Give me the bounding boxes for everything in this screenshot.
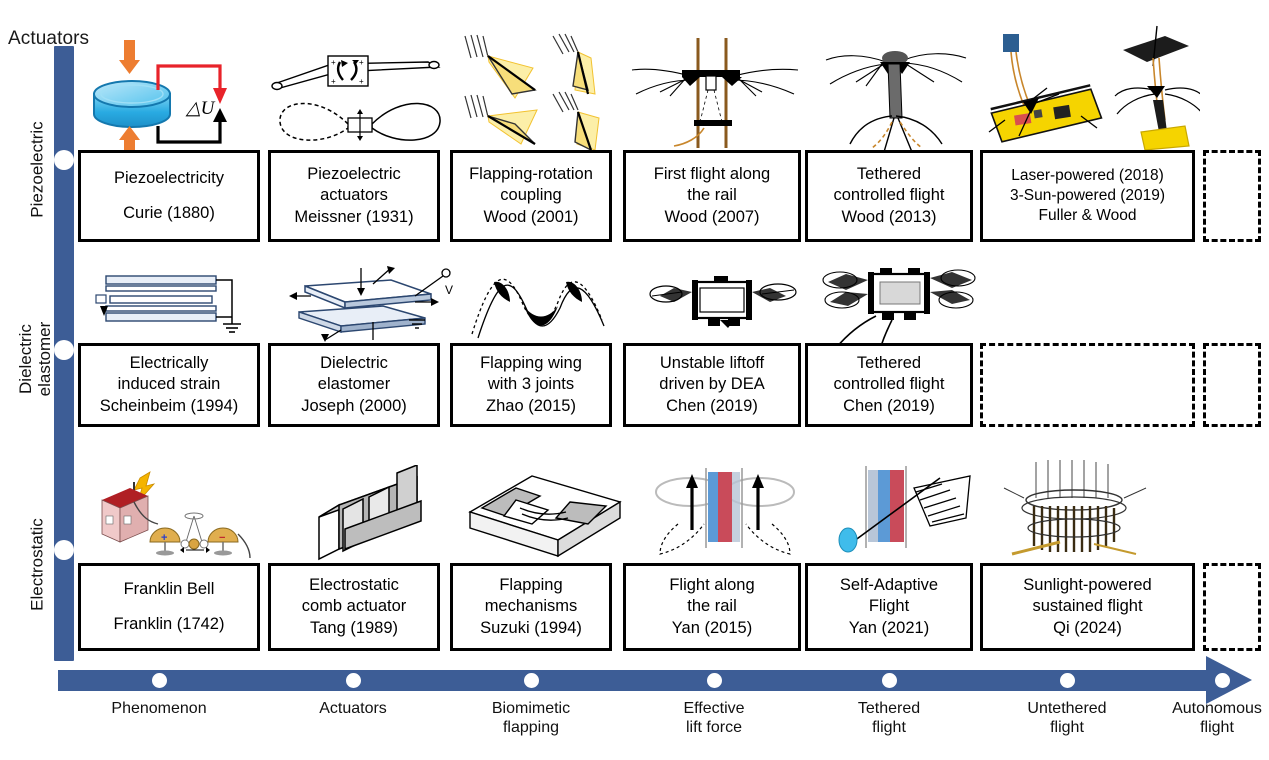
timeline-label-biomimetic-flapping: Biomimetic flapping <box>446 700 616 738</box>
comb-drive-actuator-illustration <box>305 465 445 561</box>
dielectric-elastomer-sheet-illustration: V <box>285 258 460 343</box>
card-electrostatic-4[interactable]: Flight along the rail Yan (2015) <box>623 563 801 651</box>
card-line: Flapping-rotation <box>469 164 593 185</box>
card-piezo-4[interactable]: First flight along the rail Wood (2007) <box>623 150 801 242</box>
card-piezo-5[interactable]: Tethered controlled flight Wood (2013) <box>805 150 973 242</box>
card-line: induced strain <box>118 374 221 395</box>
card-line: controlled flight <box>834 374 945 395</box>
timeline-label-phenomenon: Phenomenon <box>74 700 244 719</box>
timeline-label-effective-lift-force: Effective lift force <box>629 700 799 738</box>
card-piezo-2[interactable]: Piezoelectric actuators Meissner (1931) <box>268 150 440 242</box>
card-dea-2[interactable]: Dielectric elastomer Joseph (2000) <box>268 343 440 427</box>
card-line: Dielectric <box>320 353 388 374</box>
card-line: coupling <box>500 185 561 206</box>
row-label-electrostatic: Electrostatic <box>27 495 46 635</box>
card-line: Meissner (1931) <box>294 207 413 228</box>
svg-text:+: + <box>331 77 336 86</box>
dea-tethered-flight-illustration <box>820 258 980 350</box>
card-line: Piezoelectric <box>307 164 401 185</box>
card-line: Franklin (1742) <box>114 614 225 635</box>
card-line: First flight along <box>654 164 770 185</box>
timeline-dot-autonomous-flight <box>1215 673 1230 688</box>
card-dea-1[interactable]: Electrically induced strain Scheinbeim (… <box>78 343 260 427</box>
card-line: elastomer <box>318 374 390 395</box>
electrostatic-flight-rail-illustration <box>648 462 803 562</box>
card-line: Yan (2015) <box>672 618 752 639</box>
row-label-dielectric-elastomer: Dielectric elastomer <box>16 294 54 424</box>
flapping-wing-3-joints-illustration <box>470 258 615 343</box>
timeline-dot-untethered-flight <box>1060 673 1075 688</box>
timeline-label-tethered-flight: Tethered flight <box>804 700 974 738</box>
timeline-label-line: Phenomenon <box>74 700 244 719</box>
card-dea-4[interactable]: Unstable liftoff driven by DEA Chen (201… <box>623 343 801 427</box>
page-title: Actuators <box>8 28 89 50</box>
card-line: the rail <box>687 596 737 617</box>
card-line: driven by DEA <box>659 374 764 395</box>
actuator-development-timeline-figure: Actuators Piezoelectric Dielectric elast… <box>0 0 1269 760</box>
card-line: Self-Adaptive <box>840 575 938 596</box>
card-line: Flapping wing <box>480 353 582 374</box>
card-line: actuators <box>320 185 388 206</box>
vertical-axis-dot-electrostatic <box>54 540 74 560</box>
row-label-dielectric-line1: Dielectric <box>16 294 35 424</box>
card-line: comb actuator <box>302 596 407 617</box>
flapping-rotation-wings-illustration <box>455 32 625 154</box>
card-dea-5[interactable]: Tethered controlled flight Chen (2019) <box>805 343 973 427</box>
timeline-label-line: Untethered <box>982 700 1152 719</box>
card-dea-6-placeholder[interactable] <box>980 343 1195 427</box>
card-piezo-1[interactable]: Piezoelectricity Curie (1880) <box>78 150 260 242</box>
card-dea-3[interactable]: Flapping wing with 3 joints Zhao (2015) <box>450 343 612 427</box>
card-line: Electrostatic <box>309 575 399 596</box>
card-line: Electrically <box>130 353 209 374</box>
svg-text:+: + <box>359 77 364 86</box>
svg-text:+: + <box>359 58 364 67</box>
card-line: Wood (2007) <box>664 207 759 228</box>
timeline-label-untethered-flight: Untethered flight <box>982 700 1152 738</box>
laser-and-solar-robobee-illustration <box>985 24 1200 154</box>
timeline-axis-bar <box>58 670 1213 691</box>
timeline-label-line: Autonomous <box>1132 700 1269 719</box>
card-line: Curie (1880) <box>123 203 215 224</box>
card-line: Yan (2021) <box>849 618 929 639</box>
card-piezo-6[interactable]: Laser-powered (2018) 3-Sun-powered (2019… <box>980 150 1195 242</box>
bimorph-actuator-illustration: ++ ++ <box>270 42 470 147</box>
card-line: controlled flight <box>834 185 945 206</box>
card-line: Wood (2001) <box>483 207 578 228</box>
timeline-label-actuators: Actuators <box>268 700 438 719</box>
card-line: Tethered <box>857 353 921 374</box>
card-line: Suzuki (1994) <box>480 618 582 639</box>
electrically-induced-strain-illustration <box>90 262 255 340</box>
card-line: Unstable liftoff <box>660 353 764 374</box>
svg-text:+: + <box>161 532 167 544</box>
row-label-piezoelectric: Piezoelectric <box>27 100 46 240</box>
timeline-label-line: flight <box>804 719 974 738</box>
row-label-dielectric-line2: elastomer <box>35 294 54 424</box>
delta-u-label: △U <box>185 98 216 119</box>
card-electrostatic-7-placeholder[interactable] <box>1203 563 1261 651</box>
card-line: Fuller & Wood <box>1039 206 1137 226</box>
card-piezo-7-placeholder[interactable] <box>1203 150 1261 242</box>
card-line: Scheinbeim (1994) <box>100 396 239 417</box>
card-line: Franklin Bell <box>124 579 215 600</box>
timeline-label-line: lift force <box>629 719 799 738</box>
card-line: Flight along <box>669 575 754 596</box>
card-electrostatic-2[interactable]: Electrostatic comb actuator Tang (1989) <box>268 563 440 651</box>
self-adaptive-flight-illustration <box>830 462 980 562</box>
card-line: with 3 joints <box>488 374 574 395</box>
dea-unstable-liftoff-illustration <box>648 262 798 344</box>
card-piezo-3[interactable]: Flapping-rotation coupling Wood (2001) <box>450 150 612 242</box>
timeline-dot-phenomenon <box>152 673 167 688</box>
card-line: Laser-powered (2018) <box>1011 166 1164 186</box>
card-line: Chen (2019) <box>666 396 758 417</box>
timeline-label-line: Tethered <box>804 700 974 719</box>
card-line: Chen (2019) <box>843 396 935 417</box>
card-line: Piezoelectricity <box>114 168 224 189</box>
timeline-dot-biomimetic-flapping <box>524 673 539 688</box>
card-line: Wood (2013) <box>841 207 936 228</box>
card-line: mechanisms <box>485 596 578 617</box>
robobee-tethered-illustration <box>820 32 970 152</box>
card-line: sustained flight <box>1032 596 1142 617</box>
card-electrostatic-5[interactable]: Self-Adaptive Flight Yan (2021) <box>805 563 973 651</box>
card-line: Tethered <box>857 164 921 185</box>
timeline-label-line: Biomimetic <box>446 700 616 719</box>
card-electrostatic-6[interactable]: Sunlight-powered sustained flight Qi (20… <box>980 563 1195 651</box>
card-electrostatic-3[interactable]: Flapping mechanisms Suzuki (1994) <box>450 563 612 651</box>
timeline-label-autonomous-flight: Autonomous flight <box>1132 700 1269 738</box>
card-dea-7-placeholder[interactable] <box>1203 343 1261 427</box>
card-line: Flapping <box>499 575 562 596</box>
timeline-label-line: flight <box>982 719 1152 738</box>
card-line: the rail <box>687 185 737 206</box>
timeline-dot-effective-lift-force <box>707 673 722 688</box>
timeline-label-line: flapping <box>446 719 616 738</box>
timeline-label-line: flight <box>1132 719 1269 738</box>
flapping-mechanism-chip-illustration <box>460 468 630 560</box>
robobee-on-rail-illustration <box>630 36 805 151</box>
card-line: Zhao (2015) <box>486 396 576 417</box>
card-line: Flight <box>869 596 909 617</box>
timeline-dot-tethered-flight <box>882 673 897 688</box>
timeline-label-line: Actuators <box>268 700 438 719</box>
card-electrostatic-1[interactable]: Franklin Bell Franklin (1742) <box>78 563 260 651</box>
card-line: 3-Sun-powered (2019) <box>1010 186 1165 206</box>
voltage-label: V <box>445 283 453 297</box>
card-line: Qi (2024) <box>1053 618 1122 639</box>
piezo-disk-voltage-illustration: △U <box>80 38 260 150</box>
card-line: Sunlight-powered <box>1023 575 1151 596</box>
timeline-dot-actuators <box>346 673 361 688</box>
timeline-label-line: Effective <box>629 700 799 719</box>
vertical-axis-dot-dielectric-elastomer <box>54 340 74 360</box>
card-line: Joseph (2000) <box>301 396 407 417</box>
sunlight-powered-flight-illustration <box>990 458 1165 560</box>
vertical-axis-dot-piezoelectric <box>54 150 74 170</box>
svg-text:−: − <box>219 532 225 544</box>
card-line: Tang (1989) <box>310 618 398 639</box>
franklin-bell-illustration: + − <box>88 462 268 560</box>
svg-text:+: + <box>331 58 336 67</box>
